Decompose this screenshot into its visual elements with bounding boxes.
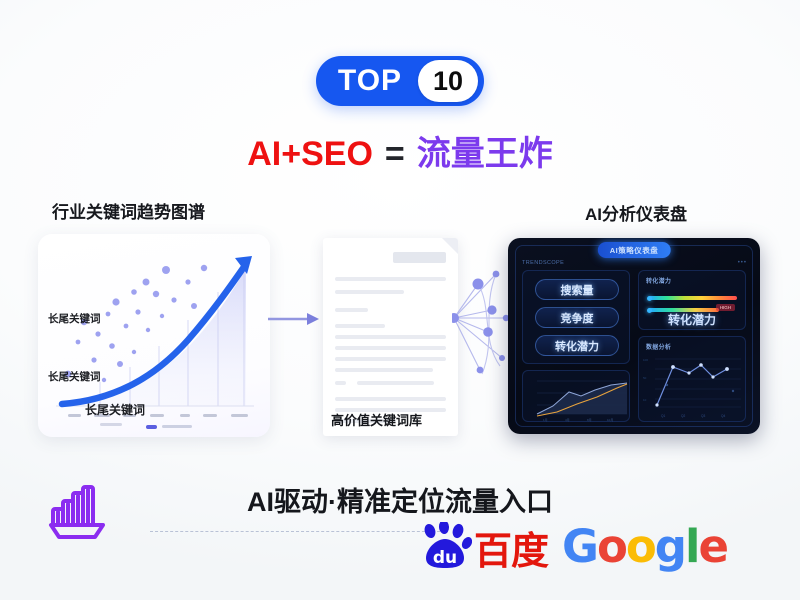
dashboard-title-badge: AI策略仪表盘 [598,242,671,258]
google-letter-g2: g [655,520,685,573]
google-letter-l: l [685,520,698,573]
gauge-marker-1 [647,296,652,301]
line-panel-title: 数据分析 [646,342,671,351]
gauge-bar-primary [649,296,737,300]
bottom-slogan: AI驱动·精准定位流量入口 [0,480,800,519]
svg-text:100: 100 [643,358,648,362]
metrics-pills-panel: 搜索量 竞争度 转化潜力 [522,270,630,364]
svg-text:1月: 1月 [543,418,548,422]
metric-button-competition[interactable]: 竞争度 [535,307,619,328]
badge-top-label: TOP [338,64,418,98]
google-letter-g1: G [562,520,597,573]
baidu-du-wordmark: du [433,548,457,568]
svg-text:Q2: Q2 [681,414,685,418]
svg-text:8月: 8月 [587,418,592,422]
baidu-chinese-name: 百度 [474,534,548,570]
google-letter-e: e [698,520,727,573]
ai-dashboard-panel: AI策略仪表盘 TRENDSCOPE ••• 搜索量 竞争度 转化潜力 1月4月… [508,238,760,434]
svg-text:50: 50 [643,376,647,380]
google-letter-o1: o [597,520,626,573]
flow-arrow-icon [268,312,320,331]
document-title: 高价值关键词库 [331,410,422,429]
right-section-caption: AI分析仪表盘 [585,200,687,225]
keyword-network-graph [452,262,514,383]
headline-operator: = [373,135,417,173]
metric-button-search-volume[interactable]: 搜索量 [535,279,619,300]
page-title: AI+SEO=流量王炸 [0,126,800,175]
google-logo: Google [562,524,727,569]
svg-text:Q4: Q4 [721,414,725,418]
analytics-pedestal-icon [46,482,108,547]
conversion-gauge-panel: 转化潜力 HIGH 转化潜力 [638,270,746,330]
document-header-block [393,252,446,263]
dashboard-brand-label: TRENDSCOPE [522,260,564,266]
search-engine-logos: du 百度 Google [420,522,727,570]
svg-text:4月: 4月 [565,418,570,422]
metric-button-conversion[interactable]: 转化潜力 [535,335,619,356]
document-body [323,238,458,423]
gauge-status-tag: HIGH [716,304,735,311]
top-badge-container: TOP 10 [0,56,800,106]
gauge-panel-title: 转化潜力 [646,276,671,285]
svg-text:Q3: Q3 [701,414,705,418]
data-analysis-panel: 数据分析 Q1Q2 Q3Q4 1005010 [638,336,746,422]
baidu-paw-icon: du [420,522,472,570]
badge-number: 10 [418,60,478,102]
dashed-connector [150,531,440,532]
trend-chart-svg [38,234,270,437]
traffic-trend-panel: 1月4月 8月10月 [522,370,630,422]
page-fold-icon [442,238,458,254]
baidu-logo: du 百度 [420,522,548,570]
keyword-label-3: 长尾关键词 [85,401,145,418]
headline-primary: AI+SEO [247,135,373,173]
dashboard-menu-icon[interactable]: ••• [738,260,747,266]
keyword-label-1: 长尾关键词 [48,311,101,326]
keyword-library-document: 高价值关键词库 [323,238,458,436]
keyword-label-2: 长尾关键词 [48,369,101,384]
svg-text:10月: 10月 [607,418,613,422]
svg-text:10: 10 [643,398,647,402]
keyword-trend-card: 长尾关键词 长尾关键词 长尾关键词 [38,234,270,437]
top-10-badge: TOP 10 [316,56,484,106]
svg-text:Q1: Q1 [661,414,665,418]
left-section-caption: 行业关键词趋势图谱 [52,198,205,223]
headline-result: 流量王炸 [417,135,553,173]
gauge-overlay-label: 转化潜力 [639,311,745,328]
google-letter-o2: o [626,520,655,573]
